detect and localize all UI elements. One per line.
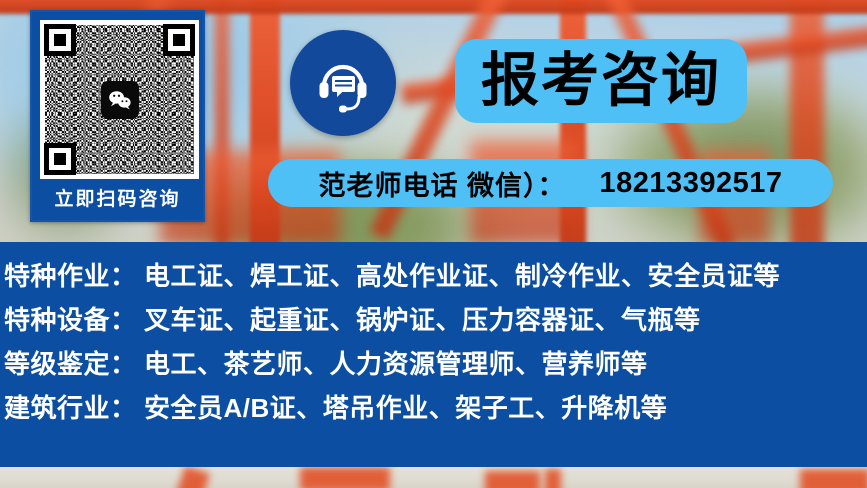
course-category: 等级鉴定： (4, 344, 144, 381)
course-row: 建筑行业： 安全员A/B证、塔吊作业、架子工、升降机等 (0, 388, 867, 432)
course-row: 特种作业： 电工证、焊工证、高处作业证、制冷作业、安全员证等 (0, 256, 867, 300)
course-row: 特种设备： 叉车证、起重证、锅炉证、压力容器证、气瓶等 (0, 300, 867, 344)
strip-base (0, 467, 867, 488)
qr-finder-top-right (163, 24, 195, 56)
course-category: 特种设备： (4, 300, 144, 337)
strip-beam-3 (485, 471, 540, 488)
course-items: 叉车证、起重证、锅炉证、压力容器证、气瓶等 (144, 300, 701, 337)
promo-poster: 立即扫码咨询 报考咨询 范老师电话 微信）： 18213392517 特 (0, 0, 867, 488)
strip-beam-5 (800, 469, 867, 488)
contact-phone-number[interactable]: 18213392517 (600, 167, 783, 200)
contact-pill[interactable]: 范老师电话 微信）： 18213392517 (268, 159, 833, 207)
page-title: 报考咨询 (481, 52, 721, 110)
headline-pill: 报考咨询 (455, 39, 747, 123)
qr-finder-bottom-left (44, 143, 76, 175)
course-items: 安全员A/B证、塔吊作业、架子工、升降机等 (144, 388, 667, 425)
course-row: 等级鉴定： 电工、茶艺师、人力资源管理师、营养师等 (0, 344, 867, 388)
wechat-logo (101, 81, 139, 119)
qr-finder-top-left (44, 24, 76, 56)
bottom-photo-strip (0, 467, 867, 488)
strip-beam-4 (545, 469, 561, 488)
course-category: 特种作业： (4, 256, 144, 293)
course-items: 电工证、焊工证、高处作业证、制冷作业、安全员证等 (144, 256, 780, 293)
contact-label: 范老师电话 微信）： (319, 164, 566, 203)
headset-chat-icon (290, 30, 396, 136)
course-items: 电工、茶艺师、人力资源管理师、营养师等 (144, 344, 648, 381)
qr-code[interactable] (40, 20, 199, 179)
course-list-panel: 特种作业： 电工证、焊工证、高处作业证、制冷作业、安全员证等 特种设备： 叉车证… (0, 242, 867, 467)
qr-card[interactable]: 立即扫码咨询 (30, 10, 205, 222)
course-category: 建筑行业： (4, 388, 144, 425)
qr-caption: 立即扫码咨询 (40, 179, 195, 221)
strip-beam-2 (300, 467, 390, 488)
